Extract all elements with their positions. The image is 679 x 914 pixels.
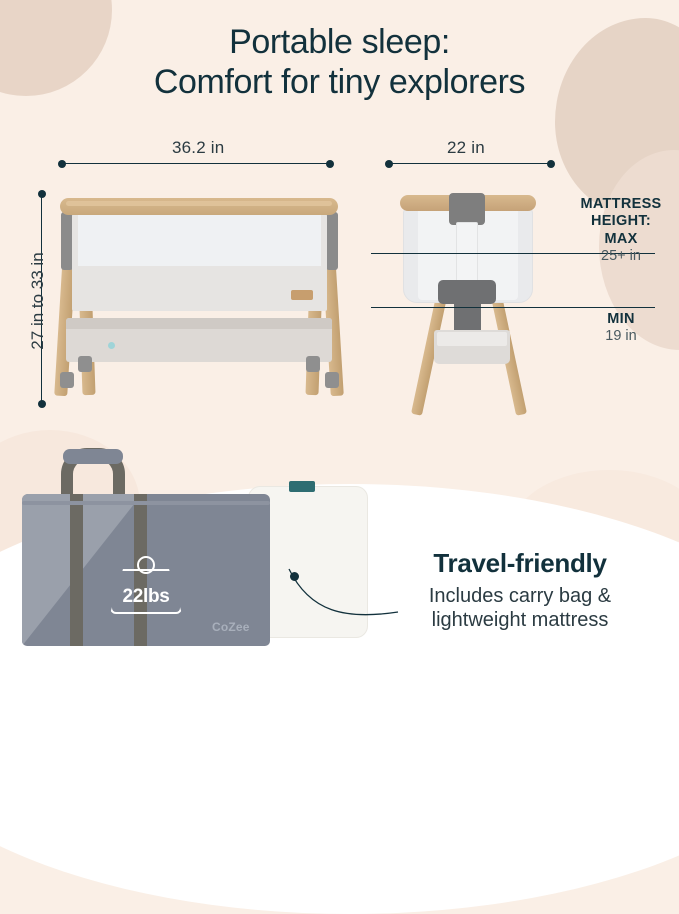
dimension-endpoint-right bbox=[547, 160, 555, 168]
bassinet-logo-patch bbox=[291, 290, 313, 300]
dimension-endpoint-bottom bbox=[38, 400, 46, 408]
dimension-endpoint-right bbox=[326, 160, 334, 168]
mattress-height-max-label: MAX bbox=[565, 231, 677, 248]
mattress-min-height-rule bbox=[371, 307, 655, 308]
mattress-brand-tag bbox=[289, 481, 315, 492]
bassinet-post bbox=[326, 212, 338, 270]
headline-line-2: Comfort for tiny explorers bbox=[0, 62, 679, 102]
bassinet-top-rail bbox=[60, 198, 338, 215]
infographic-canvas: Portable sleep: Comfort for tiny explore… bbox=[0, 0, 679, 679]
mattress-height-min-value: 19 in bbox=[565, 328, 677, 345]
mattress-height-min-label: MIN bbox=[565, 311, 677, 328]
bassinet-mesh-window bbox=[78, 214, 321, 266]
dimension-bar bbox=[390, 163, 550, 164]
mattress-height-max-annotation: MATTRESS HEIGHT: MAX 25+ in bbox=[565, 196, 677, 266]
carry-bag-strap bbox=[70, 494, 83, 646]
travel-friendly-subtitle-line2: lightweight mattress bbox=[380, 608, 660, 632]
left-height-label: 27 in to 33 in bbox=[28, 226, 48, 376]
mattress-height-max-value: 25+ in bbox=[565, 248, 677, 265]
bassinet-foot bbox=[325, 372, 339, 388]
mattress-height-title-line2: HEIGHT: bbox=[565, 213, 677, 230]
bassinet-storage-base bbox=[66, 318, 332, 362]
mattress-height-min-annotation: MIN 19 in bbox=[565, 311, 677, 346]
bassinet-foot bbox=[60, 372, 74, 388]
page-title: Portable sleep: Comfort for tiny explore… bbox=[0, 22, 679, 103]
headline-line-1: Portable sleep: bbox=[229, 23, 450, 61]
bassinet-fabric-panel bbox=[72, 214, 327, 311]
carry-bag-zipper bbox=[22, 501, 270, 505]
bassinet-foot bbox=[78, 356, 92, 372]
right-width-label: 22 in bbox=[447, 138, 485, 158]
carry-bag-grip bbox=[63, 449, 123, 464]
height-adjust-clip bbox=[449, 193, 485, 225]
travel-friendly-block: Travel-friendly Includes carry bag & lig… bbox=[380, 548, 660, 633]
right-width-dimension-line bbox=[385, 158, 555, 169]
weight-value: 22lbs bbox=[110, 586, 182, 608]
bassinet-storage-basket bbox=[434, 330, 510, 364]
left-width-dimension-line bbox=[58, 158, 334, 169]
weight-icon: 22lbs bbox=[110, 556, 182, 614]
left-width-label: 36.2 in bbox=[172, 138, 224, 158]
leader-line bbox=[250, 560, 400, 630]
height-adjust-track bbox=[456, 222, 478, 282]
travel-friendly-subtitle-line1: Includes carry bag & bbox=[380, 584, 660, 608]
travel-friendly-subtitle: Includes carry bag & lightweight mattres… bbox=[380, 584, 660, 633]
bassinet-indicator-dot bbox=[108, 342, 115, 349]
carry-bag-brand: CoZee bbox=[212, 620, 250, 634]
dimension-bar bbox=[63, 163, 329, 164]
travel-friendly-title: Travel-friendly bbox=[380, 548, 660, 579]
mattress-height-title-line1: MATTRESS bbox=[565, 196, 677, 213]
bassinet-foot bbox=[306, 356, 320, 372]
